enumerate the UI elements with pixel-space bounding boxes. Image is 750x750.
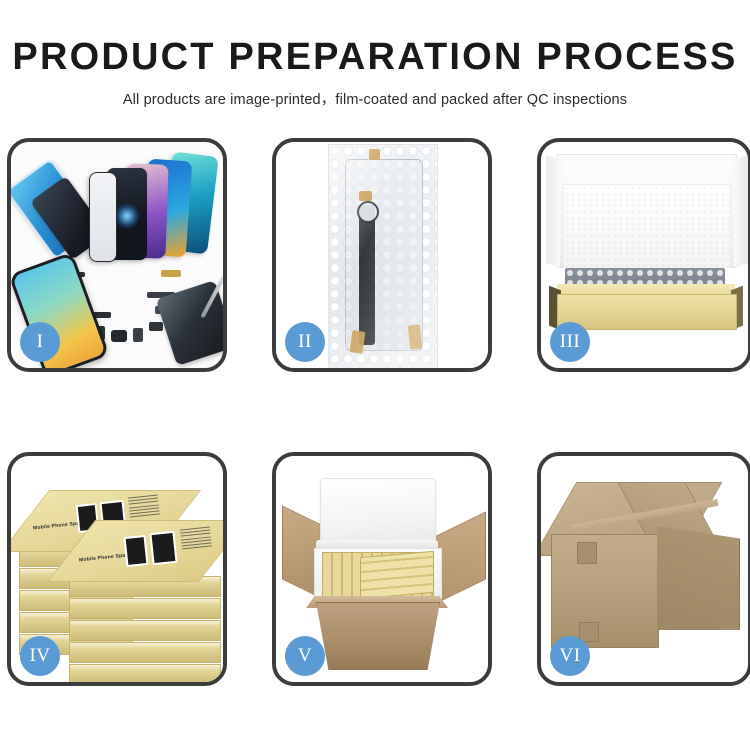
process-step-panel-4: Mobile Phone Spare Parts Mobile Phone Sp… — [7, 452, 227, 686]
stacked-box-slab-7 — [69, 598, 221, 619]
yellow-box-front-icon — [557, 294, 737, 330]
process-step-panel-6: VI — [537, 452, 750, 686]
phone-screen-fan-group — [83, 154, 223, 274]
component-bar-11 — [149, 322, 163, 331]
component-bar-2 — [161, 270, 181, 277]
step-badge-3: III — [550, 322, 590, 362]
carton-front-face — [551, 534, 659, 648]
process-step-grid: I II — [7, 138, 743, 686]
product-preparation-infographic: PRODUCT PREPARATION PROCESS All products… — [0, 0, 750, 750]
carton-flap-tab-1 — [577, 542, 597, 564]
stacked-box-slab-8 — [69, 620, 221, 641]
box-label-phone-image-2 — [149, 531, 177, 565]
step-badge-6: VI — [550, 636, 590, 676]
carton-side-face — [657, 526, 740, 630]
step-badge-1: I — [20, 322, 60, 362]
page-subtitle: All products are image-printed，film-coat… — [0, 88, 750, 109]
process-step-panel-2: II — [272, 138, 492, 372]
carton-body-icon — [316, 602, 440, 670]
box-label-phone-image-1 — [123, 535, 148, 567]
header: PRODUCT PREPARATION PROCESS All products… — [0, 0, 750, 109]
process-step-panel-5: V — [272, 452, 492, 686]
step-badge-2: II — [285, 322, 325, 362]
bag-sheen-overlay — [329, 145, 437, 368]
step-badge-5: V — [285, 636, 325, 676]
box-label-spec-lines-2 — [180, 526, 212, 551]
component-bar-9 — [111, 330, 127, 342]
glass-protector-icon — [89, 172, 117, 262]
process-step-panel-1: I — [7, 138, 227, 372]
step-badge-4: IV — [20, 636, 60, 676]
styrofoam-lid-icon — [320, 478, 436, 548]
page-title: PRODUCT PREPARATION PROCESS — [0, 38, 750, 78]
white-foam-sheet-icon — [563, 184, 731, 268]
packed-yellow-boxes-2 — [360, 551, 434, 599]
box-label-spec-lines-1 — [128, 494, 160, 519]
stacked-box-slab-9 — [69, 642, 221, 663]
stacked-box-slab-10 — [69, 664, 221, 682]
component-bar-10 — [133, 328, 143, 342]
bubble-wrap-bag-icon — [328, 144, 438, 368]
process-step-panel-3: III — [537, 138, 750, 372]
